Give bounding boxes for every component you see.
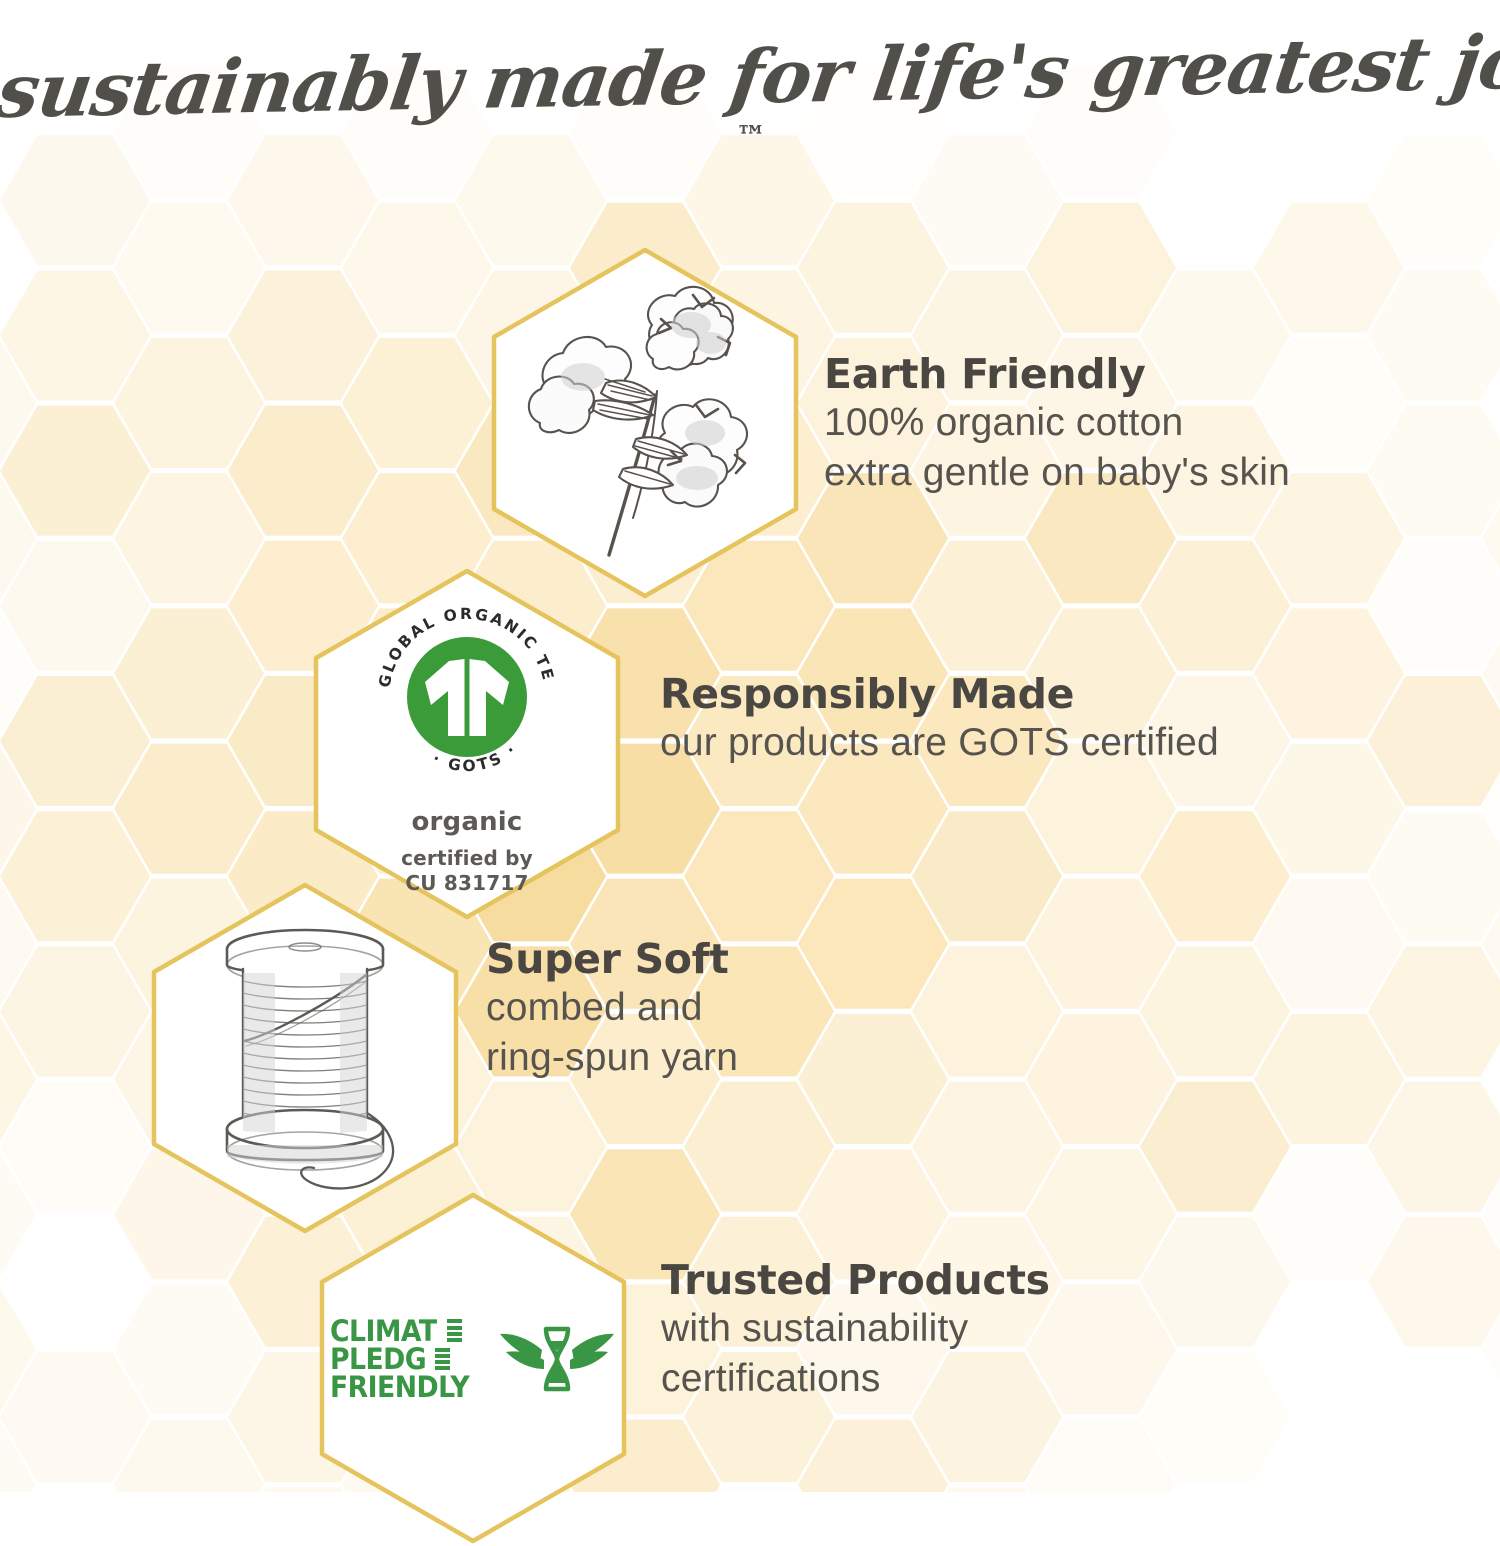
feature-line: combed and <box>486 983 738 1033</box>
climate-pledge-friendly-logo: CLIMAT PLEDG FRIENDLY <box>311 1172 635 1546</box>
trademark-symbol: ™ <box>736 120 766 155</box>
feature-text-earth-friendly: Earth Friendly 100% organic cotton extra… <box>824 352 1290 498</box>
feature-hexagon-trusted-products: CLIMAT PLEDG FRIENDLY <box>311 1190 635 1546</box>
cpf-line-3: FRIENDLY <box>330 1373 469 1401</box>
headline-container: sustainably made for life's greatest joy… <box>0 34 1500 158</box>
feature-title: Trusted Products <box>661 1258 1050 1304</box>
feature-hexagon-responsibly-made: GLOBAL ORGANIC TEXTILE STANDARD · GOTS ·… <box>305 566 629 922</box>
cpf-line-2: PLEDG <box>330 1345 426 1373</box>
feature-line: our products are GOTS certified <box>660 718 1219 768</box>
cpf-bars-icon <box>435 1348 450 1371</box>
feature-hexagon-earth-friendly <box>483 245 807 601</box>
feature-line: 100% organic cotton <box>824 398 1290 448</box>
climate-pledge-wordmark: CLIMAT PLEDG FRIENDLY <box>330 1317 481 1401</box>
feature-line: extra gentle on baby's skin <box>824 448 1290 498</box>
feature-line: ring-spun yarn <box>486 1033 738 1083</box>
feature-text-super-soft: Super Soft combed and ring-spun yarn <box>486 937 738 1083</box>
cotton-boll-illustration <box>483 245 807 601</box>
page-title: sustainably made for life's greatest joy <box>0 19 1500 135</box>
winged-hourglass-icon <box>498 1317 616 1401</box>
gots-organic-label: organic <box>369 807 565 837</box>
cpf-bars-icon <box>447 1319 462 1342</box>
gots-certification-logo: GLOBAL ORGANIC TEXTILE STANDARD · GOTS ·… <box>305 566 629 922</box>
feature-title: Responsibly Made <box>660 672 1219 718</box>
cpf-line-1: CLIMAT <box>330 1317 437 1345</box>
feature-title: Earth Friendly <box>824 352 1290 398</box>
feature-line: certifications <box>661 1354 1050 1404</box>
feature-line: with sustainability <box>661 1304 1050 1354</box>
feature-text-trusted-products: Trusted Products with sustainability cer… <box>661 1258 1050 1404</box>
certified-by-text: certified by <box>401 846 533 870</box>
feature-title: Super Soft <box>486 937 738 983</box>
feature-text-responsibly-made: Responsibly Made our products are GOTS c… <box>660 672 1219 768</box>
gots-seal-icon: GLOBAL ORGANIC TEXTILE STANDARD · GOTS · <box>369 599 565 795</box>
